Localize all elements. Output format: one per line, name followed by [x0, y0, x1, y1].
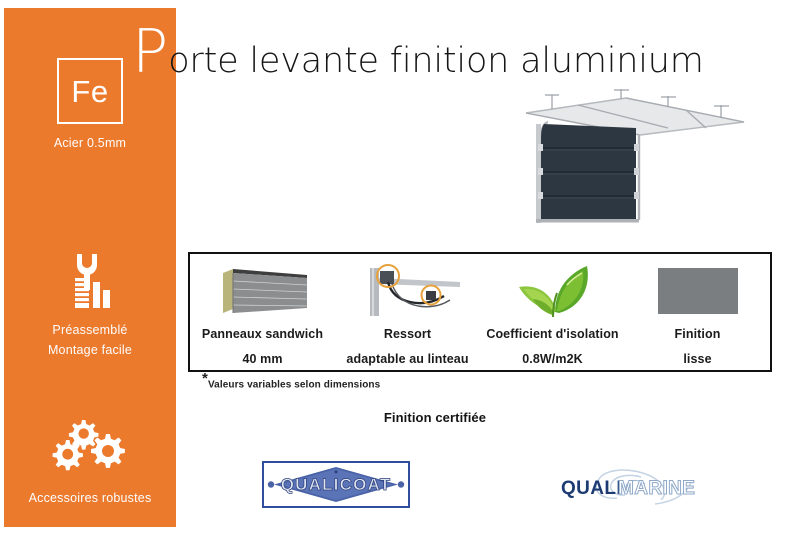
spec-value-panneaux-sandwich: 40 mm	[242, 352, 282, 366]
svg-text:MARINE: MARINE	[618, 478, 695, 499]
spring-mechanism-icon	[352, 261, 464, 321]
spec-cell-finition: Finition lisse	[625, 254, 770, 370]
sandwich-panel-icon	[211, 261, 315, 321]
page-title: P orte levante finition aluminium	[132, 22, 704, 86]
spec-title-finition: Finition	[675, 327, 721, 341]
spec-value-finition: lisse	[683, 352, 711, 366]
fe-element-icon: Fe	[57, 58, 123, 124]
sidebar-label-acier: Acier 0.5mm	[4, 133, 176, 153]
footnote: *Valeurs variables selon dimensions	[202, 379, 380, 390]
finish-swatch-icon	[655, 261, 741, 321]
sidebar-label-accessoires: Accessoires robustes	[4, 488, 176, 508]
footnote-text: Valeurs variables selon dimensions	[208, 379, 380, 390]
svg-text:QUALICOAT: QUALICOAT	[281, 475, 392, 494]
svg-text:QUALI: QUALI	[561, 478, 622, 499]
spec-panel: Panneaux sandwich 40 mm	[188, 252, 772, 372]
qualicoat-logo: QUALICOAT	[262, 461, 410, 508]
spec-value-coefficient-isolation: 0.8W/m2K	[522, 352, 583, 366]
green-leaf-icon	[509, 261, 597, 321]
fe-symbol: Fe	[71, 76, 108, 107]
spec-title-coefficient-isolation: Coefficient d'isolation	[486, 327, 618, 341]
title-dropcap: P	[132, 22, 167, 82]
wrench-tools-icon	[4, 248, 176, 310]
spec-cell-coefficient-isolation: Coefficient d'isolation 0.8W/m2K	[480, 254, 625, 370]
sidebar-item-preassemble: Préassemblé Montage facile	[4, 248, 176, 360]
qualimarine-logo: QUALI MARINE	[555, 466, 707, 508]
certification-caption: Finition certifiée	[0, 410, 800, 425]
sidebar-label-preassemble: Préassemblé	[4, 320, 176, 340]
sidebar-item-accessoires: Accessoires robustes	[4, 416, 176, 508]
title-text: orte levante finition aluminium	[168, 44, 703, 79]
product-photo	[508, 88, 756, 228]
spec-title-ressort: Ressort	[384, 327, 431, 341]
spec-cell-ressort: Ressort adaptable au linteau	[335, 254, 480, 370]
spec-value-ressort: adaptable au linteau	[346, 352, 468, 366]
gears-icon	[4, 416, 176, 478]
spec-title-panneaux-sandwich: Panneaux sandwich	[202, 327, 323, 341]
spec-cell-panneaux-sandwich: Panneaux sandwich 40 mm	[190, 254, 335, 370]
sidebar-label-montage-facile: Montage facile	[4, 340, 176, 360]
